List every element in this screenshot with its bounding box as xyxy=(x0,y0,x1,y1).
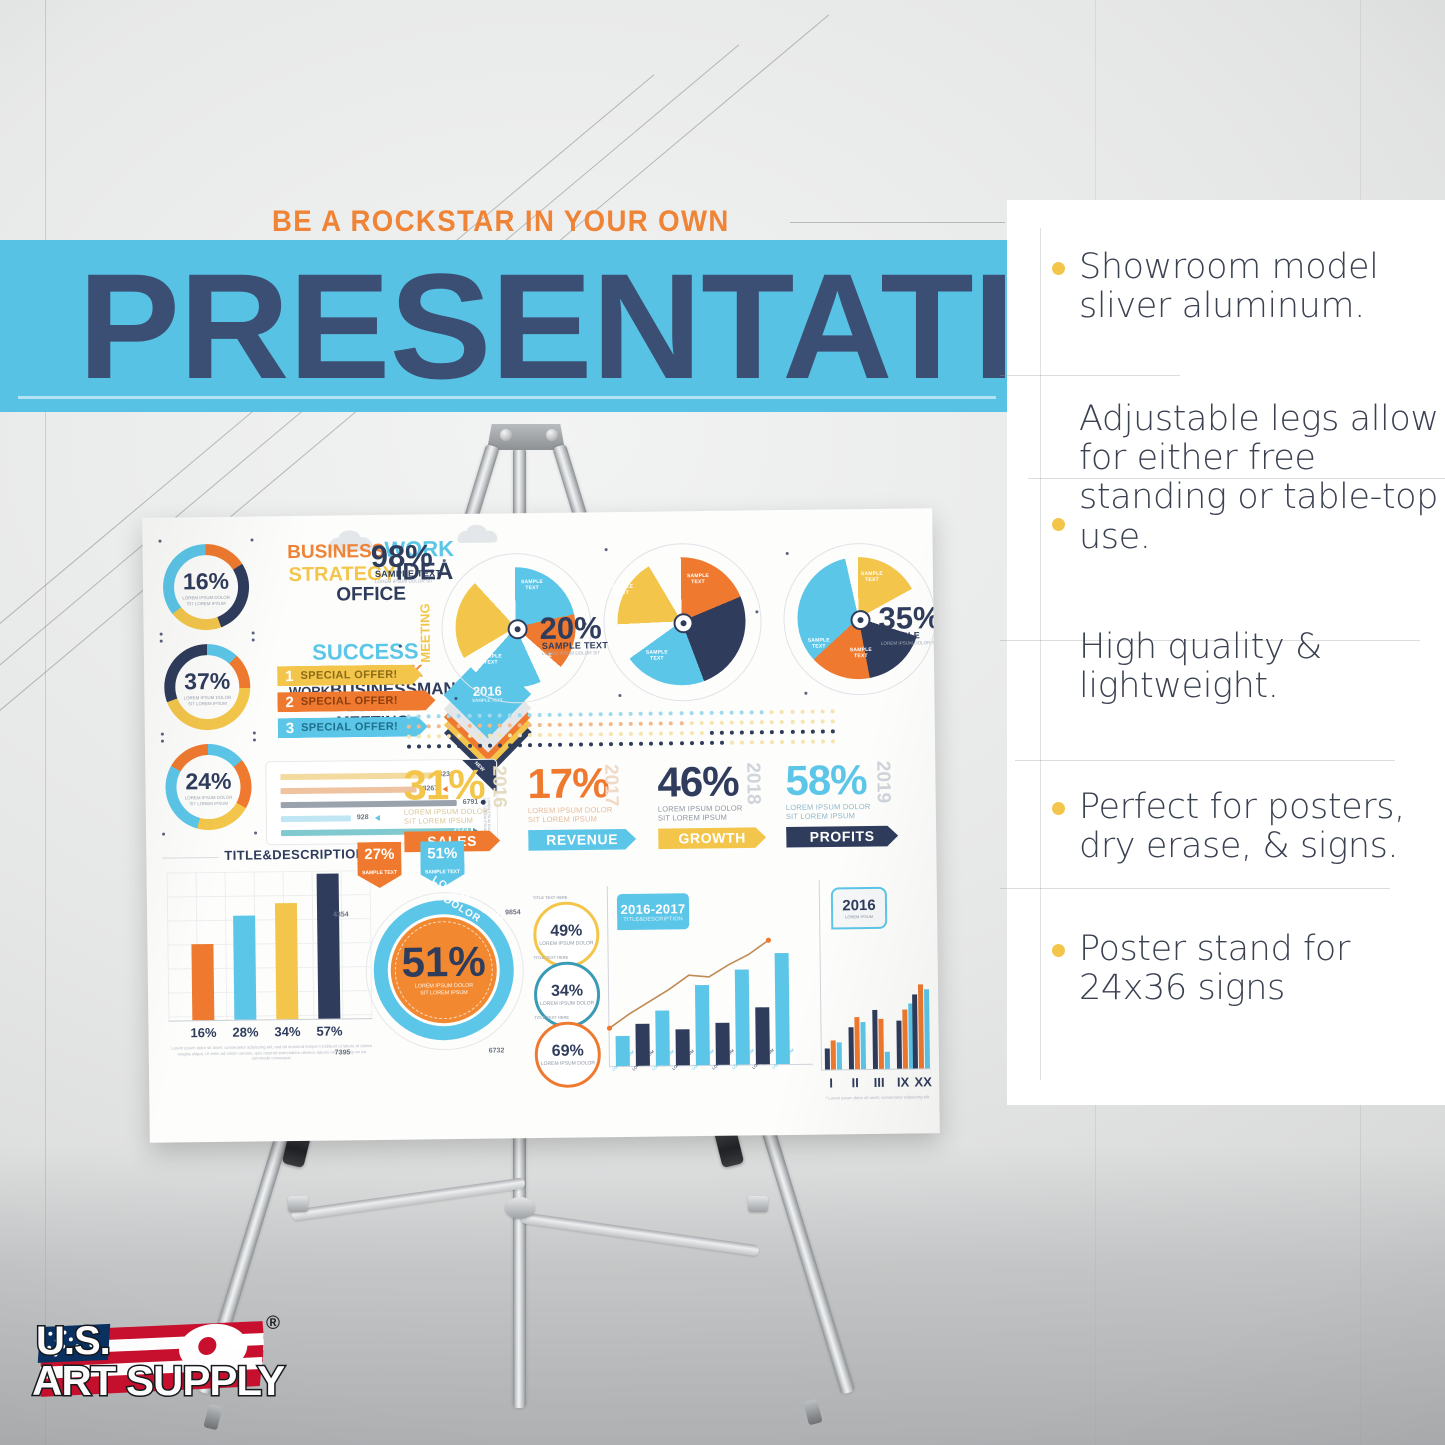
vignette-overlay xyxy=(0,0,1445,1445)
product-marketing-image: BE A ROCKSTAR IN YOUR OWN PRESENTATION S… xyxy=(0,0,1445,1445)
